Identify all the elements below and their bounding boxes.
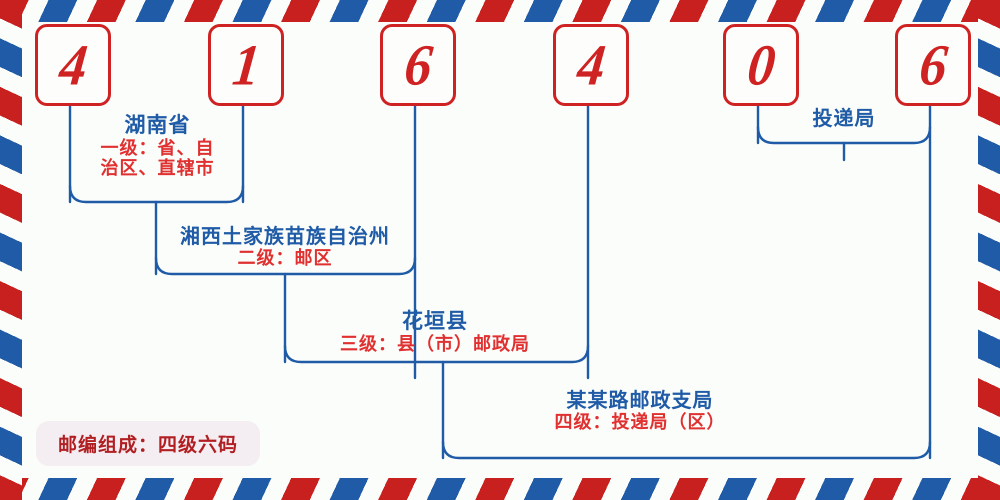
callout-level-3-subtitle: 三级：县（市）邮政局	[300, 334, 570, 354]
digit-box-6[interactable]: 6	[895, 24, 971, 106]
callout-level-1-subtitle-line-2: 治区、直辖市	[85, 158, 230, 178]
digit-value-3: 6	[401, 36, 434, 94]
digit-value-5: 0	[744, 36, 777, 94]
callout-level-2: 湘西土家族苗族自治州 二级：邮区	[170, 226, 400, 269]
callout-level-1-subtitle: 一级：省、自 治区、直辖市	[85, 138, 230, 178]
callout-level-1-title: 湖南省	[85, 114, 230, 138]
digit-box-2[interactable]: 1	[208, 24, 284, 106]
callout-level-4-title: 某某路邮政支局	[500, 390, 780, 412]
digit-box-5[interactable]: 0	[723, 24, 799, 106]
callout-level-3: 花垣县 三级：县（市）邮政局	[300, 310, 570, 354]
digit-value-2: 1	[229, 36, 262, 94]
callout-level-2-subtitle-line-1: 二级：邮区	[170, 248, 400, 268]
digit-value-1: 4	[56, 36, 89, 94]
postcode-digit-row: 4 1 6 4 0 6	[0, 0, 1000, 100]
callout-level-3-title: 花垣县	[300, 310, 570, 334]
bracket-level-1	[70, 186, 243, 202]
callout-level-1-subtitle-line-1: 一级：省、自	[85, 138, 230, 158]
legend-badge-text: 邮编组成：四级六码	[58, 435, 238, 456]
legend-badge: 邮编组成：四级六码	[36, 421, 260, 466]
digit-value-4: 4	[574, 36, 607, 94]
digit-box-3[interactable]: 6	[380, 24, 456, 106]
digit-box-1[interactable]: 4	[35, 24, 111, 106]
callout-delivery-office-title: 投递局	[784, 108, 904, 130]
callout-level-4-subtitle-line-1: 四级：投递局（区）	[500, 412, 780, 432]
callout-level-3-subtitle-line-1: 三级：县（市）邮政局	[300, 334, 570, 354]
bracket-level-4	[443, 442, 930, 458]
callout-level-2-subtitle: 二级：邮区	[170, 248, 400, 268]
callout-level-2-title: 湘西土家族苗族自治州	[170, 226, 400, 248]
digit-box-4[interactable]: 4	[553, 24, 629, 106]
postcode-structure-diagram: 4 1 6 4 0 6 湖南省 一级：省、自 治区、直辖市 湘西土家族苗族自治州…	[0, 0, 1000, 500]
callout-level-4-subtitle: 四级：投递局（区）	[500, 412, 780, 432]
callout-level-1: 湖南省 一级：省、自 治区、直辖市	[85, 114, 230, 178]
callout-level-4: 某某路邮政支局 四级：投递局（区）	[500, 390, 780, 433]
callout-delivery-office: 投递局	[784, 108, 904, 130]
digit-value-6: 6	[916, 36, 949, 94]
